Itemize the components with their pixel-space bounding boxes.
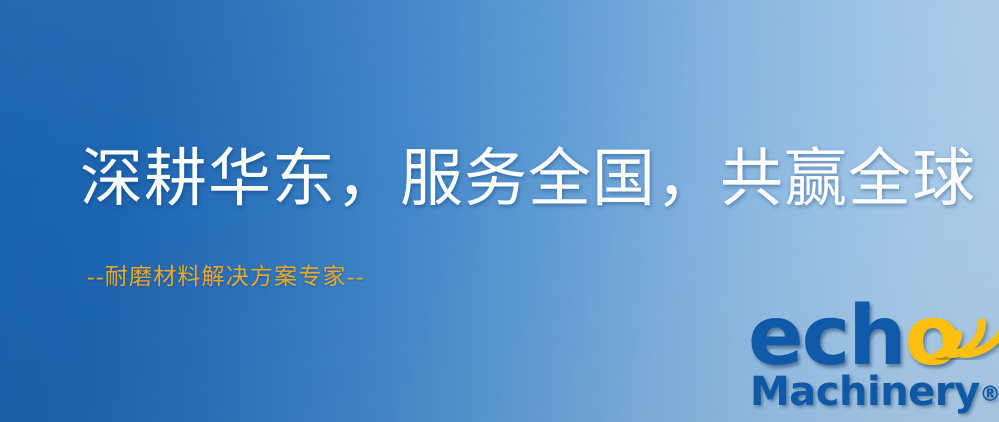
logo-wordmark-machinery: Machinery®	[750, 372, 999, 414]
echo-machinery-logo: echo Machinery®	[748, 296, 999, 422]
logo-text-machinery: Machinery	[750, 369, 980, 415]
logo-wordmark-echo: echo	[748, 296, 959, 378]
banner-subtitle: --耐磨材料解决方案专家--	[87, 265, 364, 288]
promo-banner: 深耕华东，服务全国，共赢全球 --耐磨材料解决方案专家-- echo Machi…	[0, 0, 999, 422]
registered-trademark-icon: ®	[980, 382, 999, 406]
echo-waves-icon	[930, 294, 999, 360]
banner-headline: 深耕华东，服务全国，共赢全球	[80, 148, 976, 211]
